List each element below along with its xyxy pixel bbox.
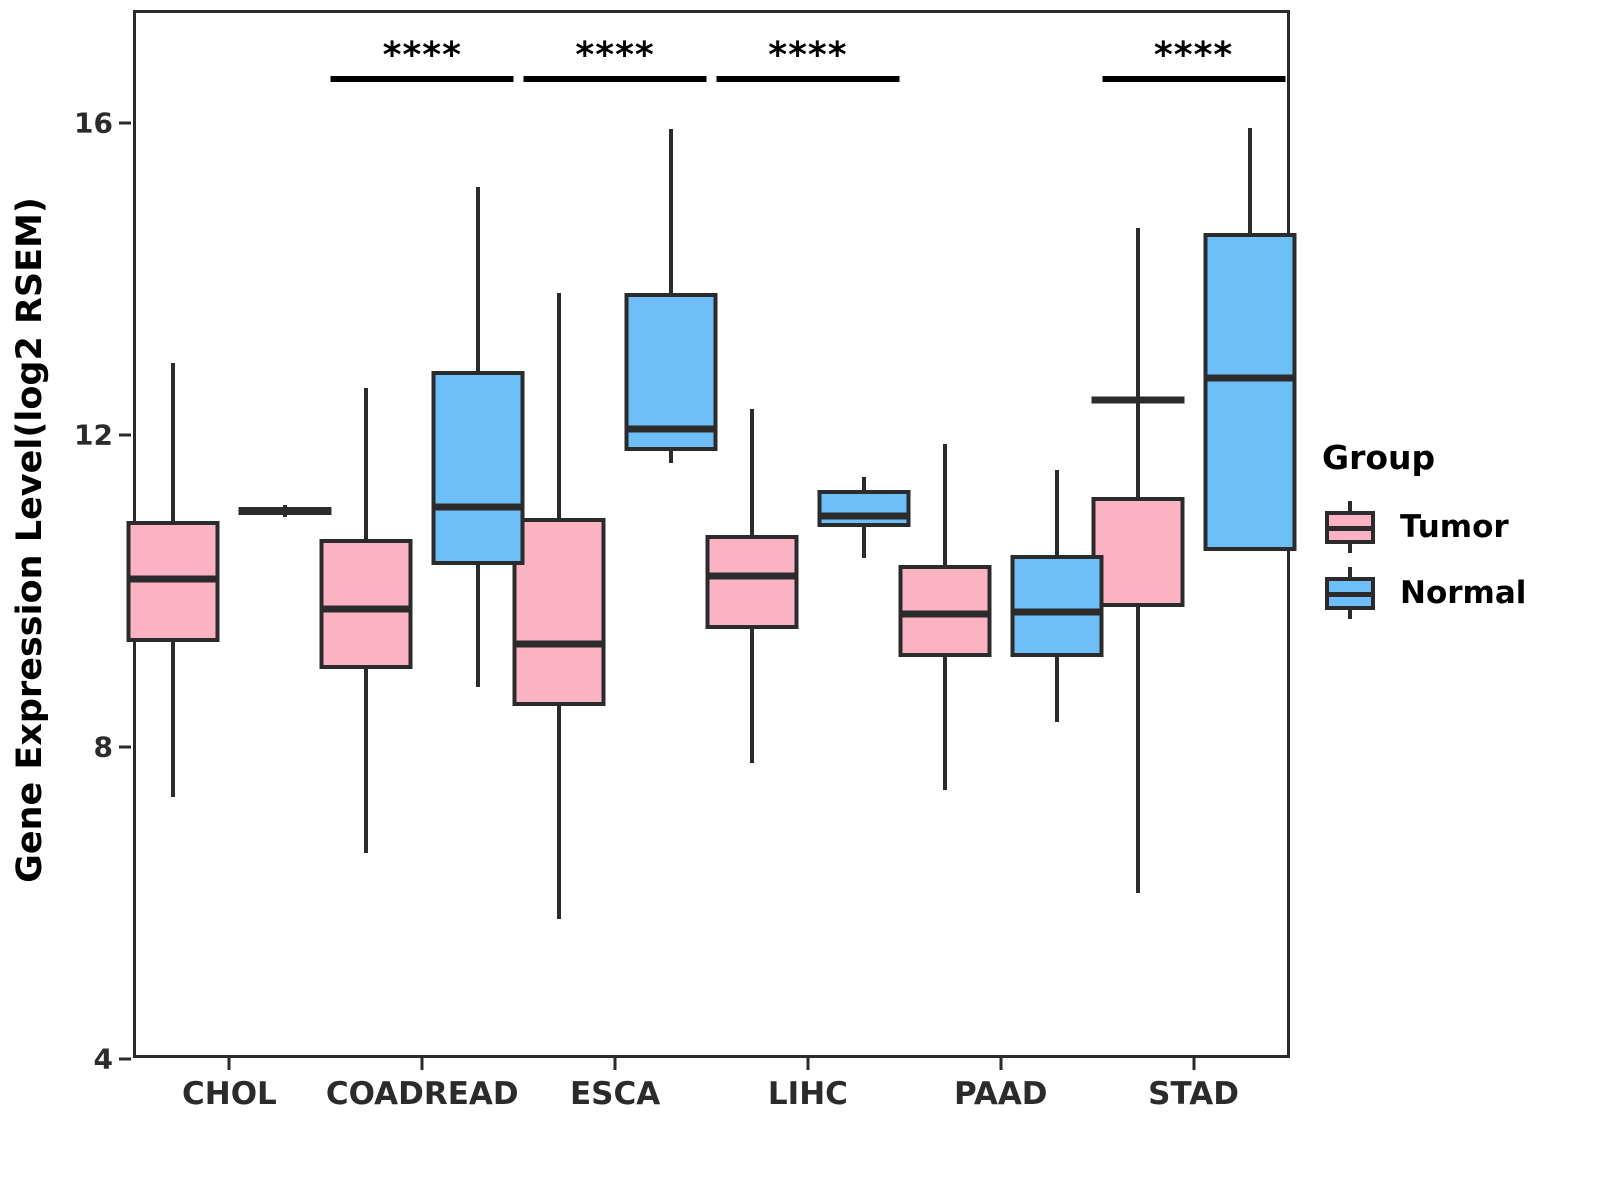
y-axis-tick-label: 4	[53, 1043, 113, 1076]
boxplot-median	[513, 641, 606, 648]
x-axis-tick-label-coadread: COADREAD	[326, 1076, 519, 1112]
boxplot-box-normal-lihc[interactable]	[817, 490, 910, 527]
boxplot-median	[432, 503, 525, 510]
legend-label-normal: Normal	[1400, 575, 1526, 611]
boxplot-box-tumor-lihc[interactable]	[705, 535, 798, 629]
boxplot-median	[1203, 375, 1296, 382]
legend-item-normal[interactable]: Normal	[1322, 563, 1582, 623]
x-axis-tick-label-chol: CHOL	[182, 1076, 277, 1112]
y-axis-tick-label: 12	[53, 419, 113, 452]
legend-key-normal	[1322, 565, 1378, 621]
boxplot-box-normal-coadread[interactable]	[432, 371, 525, 565]
significance-stars-esca: ****	[575, 38, 654, 74]
significance-stars-stad: ****	[1154, 38, 1233, 74]
legend-label-tumor: Tumor	[1400, 509, 1509, 545]
legend-key-tumor	[1322, 499, 1378, 555]
significance-bar-coadread	[331, 76, 514, 82]
significance-bar-esca	[524, 76, 707, 82]
y-axis-tick-mark	[119, 122, 131, 125]
boxplot-median	[1010, 609, 1103, 616]
boxplot-median	[1091, 396, 1184, 403]
significance-stars-coadread: ****	[383, 38, 462, 74]
boxplot-median	[127, 576, 220, 583]
x-axis-tick-mark	[228, 1058, 231, 1070]
x-axis-tick-mark	[421, 1058, 424, 1070]
boxplot-box-tumor-stad[interactable]	[1091, 497, 1184, 608]
boxplot-box-normal-paad[interactable]	[1010, 555, 1103, 657]
plot-area: ****************	[133, 10, 1290, 1058]
boxplot-box-tumor-coadread[interactable]	[320, 539, 413, 669]
x-axis-tick-label-stad: STAD	[1148, 1076, 1239, 1112]
boxplot-box-tumor-esca[interactable]	[513, 518, 606, 706]
chart-root: Gene Expression Level(log2 RSEM) 161284 …	[0, 0, 1600, 1200]
legend-key-median	[1325, 526, 1375, 531]
boxplot-median	[320, 605, 413, 612]
significance-stars-lihc: ****	[768, 38, 847, 74]
x-axis-tick-mark	[999, 1058, 1002, 1070]
boxplot-median	[817, 513, 910, 520]
x-axis-tick-mark	[806, 1058, 809, 1070]
x-axis-tick-mark	[1192, 1058, 1195, 1070]
y-axis-tick-mark	[119, 434, 131, 437]
x-axis-tick-label-lihc: LIHC	[768, 1076, 848, 1112]
significance-bar-lihc	[716, 76, 899, 82]
boxplot-box-normal-stad[interactable]	[1203, 233, 1296, 551]
significance-bar-stad	[1102, 76, 1285, 82]
y-axis-tick-mark	[119, 1058, 131, 1061]
legend-item-tumor[interactable]: Tumor	[1322, 497, 1582, 557]
y-axis-tick-label: 8	[53, 731, 113, 764]
x-axis-tick-label-paad: PAAD	[954, 1076, 1048, 1112]
boxplot-median	[239, 508, 332, 515]
legend-key-median	[1325, 592, 1375, 597]
x-axis-tick-label-esca: ESCA	[570, 1076, 660, 1112]
boxplot-median	[898, 611, 991, 618]
legend-title: Group	[1322, 438, 1582, 477]
y-axis-title: Gene Expression Level(log2 RSEM)	[0, 0, 60, 1080]
boxplot-median	[705, 573, 798, 580]
y-axis-tick-label: 16	[53, 107, 113, 140]
boxplot-median	[625, 425, 718, 432]
legend: Group Tumor Normal	[1322, 438, 1582, 629]
y-axis-tick-mark	[119, 746, 131, 749]
x-axis-tick-mark	[614, 1058, 617, 1070]
